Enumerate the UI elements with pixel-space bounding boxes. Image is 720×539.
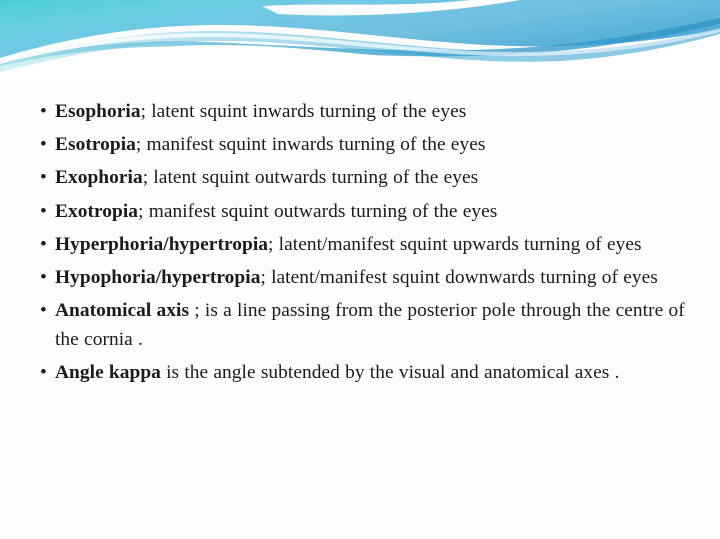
list-item: •Hypophoria/hypertropia; latent/manifest…: [38, 264, 704, 292]
list-item: •Exotropia; manifest squint outwards tur…: [38, 198, 704, 226]
bullet-icon: •: [40, 164, 47, 192]
bullet-icon: •: [40, 231, 47, 259]
definition-text: ; latent squint outwards turning of the …: [143, 167, 479, 188]
list-item: •Esophoria; latent squint inwards turnin…: [38, 98, 704, 126]
definition-text: is the angle subtended by the visual and…: [161, 362, 620, 383]
term-label: Hyperphoria/hypertropia: [55, 234, 268, 255]
term-label: Esotropia: [55, 134, 136, 155]
term-label: Exotropia: [55, 201, 138, 222]
bullet-icon: •: [40, 297, 47, 325]
term-label: Hypophoria/hypertropia: [55, 267, 260, 288]
term-label: Esophoria: [55, 101, 141, 122]
definition-text: ; latent/manifest squint downwards turni…: [260, 267, 657, 288]
wave-graphic: [0, 0, 720, 80]
list-item: •Hyperphoria/hypertropia; latent/manifes…: [38, 231, 704, 259]
term-label: Anatomical axis: [55, 300, 189, 321]
bullet-icon: •: [40, 198, 47, 226]
term-label: Exophoria: [55, 167, 143, 188]
definition-text: ; manifest squint outwards turning of th…: [138, 201, 497, 222]
slide-body: •Esophoria; latent squint inwards turnin…: [0, 84, 720, 539]
bullet-icon: •: [40, 264, 47, 292]
list-item: •Esotropia; manifest squint inwards turn…: [38, 131, 704, 159]
list-item: •Anatomical axis ; is a line passing fro…: [38, 297, 704, 353]
definition-text: ; manifest squint inwards turning of the…: [136, 134, 486, 155]
slide: •Esophoria; latent squint inwards turnin…: [0, 0, 720, 539]
definition-text: ; latent squint inwards turning of the e…: [141, 101, 467, 122]
bullet-icon: •: [40, 131, 47, 159]
term-label: Angle kappa: [55, 362, 161, 383]
definition-list: •Esophoria; latent squint inwards turnin…: [0, 84, 720, 387]
decorative-wave-banner: [0, 0, 720, 80]
bullet-icon: •: [40, 98, 47, 126]
bullet-icon: •: [40, 359, 47, 387]
list-item: •Angle kappa is the angle subtended by t…: [38, 359, 704, 387]
list-item: •Exophoria; latent squint outwards turni…: [38, 164, 704, 192]
definition-text: ; latent/manifest squint upwards turning…: [268, 234, 642, 255]
